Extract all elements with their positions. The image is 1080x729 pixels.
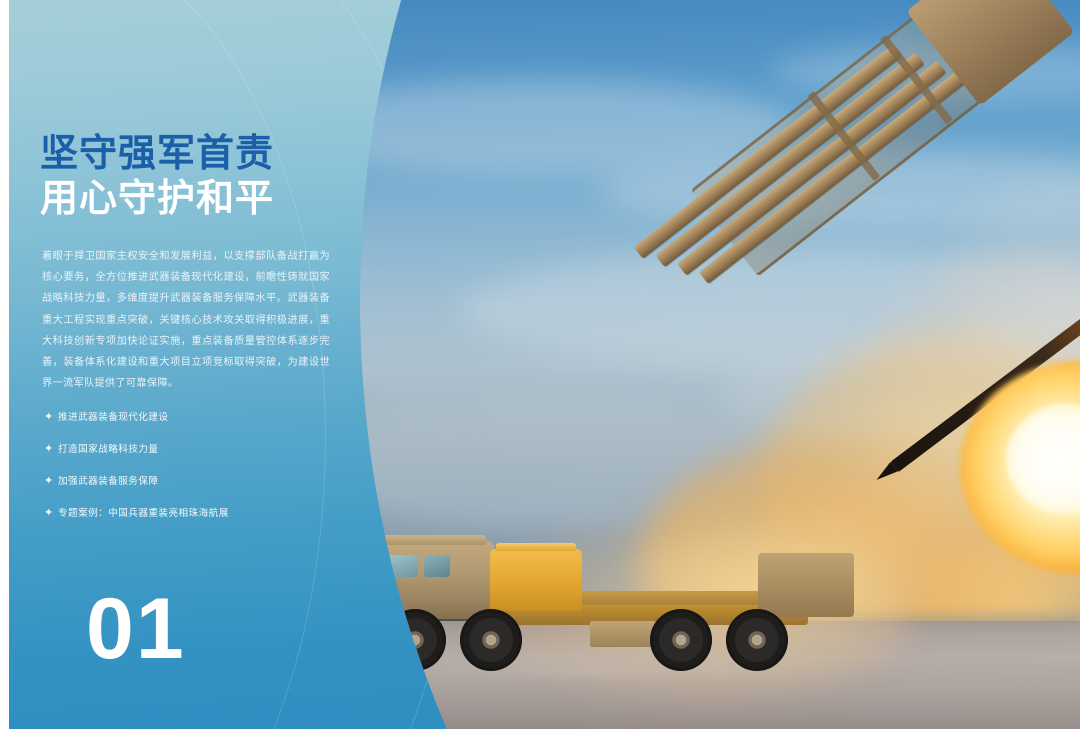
list-item-label: 专题案例：中国兵器重装亮相珠海航展: [58, 509, 229, 519]
title-line-2: 用心守护和平: [40, 177, 340, 222]
list-item-label: 推进武器装备现代化建设: [58, 413, 168, 423]
page-title: 坚守强军首责 用心守护和平: [40, 132, 340, 222]
truck-wheel: [726, 609, 788, 671]
list-item-label: 加强武器装备服务保障: [58, 477, 158, 487]
truck-cab-roof: [378, 535, 486, 545]
plus-icon: ✦: [44, 412, 58, 423]
truck-hood: [490, 549, 582, 611]
highlight-list: ✦ 推进武器装备现代化建设 ✦ 打造国家战略科技力量 ✦ 加强武器装备服务保障 …: [44, 406, 334, 534]
list-item: ✦ 打造国家战略科技力量: [44, 438, 334, 461]
plus-icon: ✦: [44, 476, 58, 487]
truck-rear-mount: [758, 553, 854, 617]
plus-icon: ✦: [44, 508, 58, 519]
left-margin: [0, 0, 9, 729]
plus-icon: ✦: [44, 444, 58, 455]
list-item: ✦ 专题案例：中国兵器重装亮相珠海航展: [44, 502, 334, 525]
list-item: ✦ 推进武器装备现代化建设: [44, 406, 334, 429]
hero-photo-image: [340, 0, 1080, 729]
section-number: 01: [86, 586, 186, 672]
body-paragraph: 着眼于捍卫国家主权安全和发展利益，以支撑部队备战打赢为核心要务，全方位推进武器装…: [42, 246, 330, 395]
truck-storage-box: [590, 621, 656, 647]
truck-window: [424, 555, 450, 577]
list-item: ✦ 加强武器装备服务保障: [44, 470, 334, 493]
truck-wheel: [650, 609, 712, 671]
list-item-label: 打造国家战略科技力量: [58, 445, 158, 455]
military-truck: [362, 517, 862, 677]
truck-wheel: [460, 609, 522, 671]
truck-hood-top: [496, 543, 576, 551]
hero-photo: [340, 0, 1080, 729]
title-line-1: 坚守强军首责: [40, 132, 340, 177]
report-page: 坚守强军首责 用心守护和平 着眼于捍卫国家主权安全和发展利益，以支撑部队备战打赢…: [0, 0, 1080, 729]
content-column: 坚守强军首责 用心守护和平 着眼于捍卫国家主权安全和发展利益，以支撑部队备战打赢…: [40, 0, 340, 729]
